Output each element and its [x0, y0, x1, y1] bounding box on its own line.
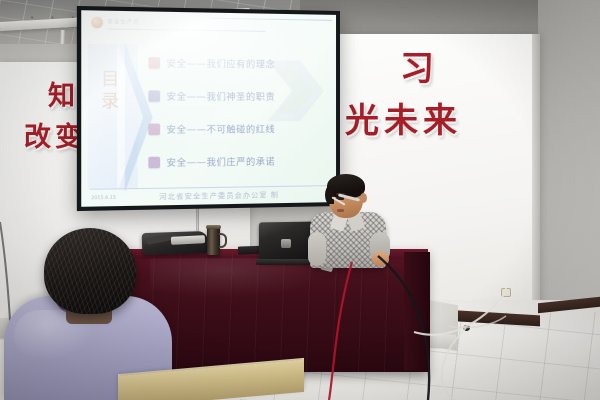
audience-hair-texture — [44, 228, 136, 314]
presenter-mouth — [337, 209, 344, 212]
slide-list-item-text: 安全——我们庄严的承诺 — [166, 154, 275, 168]
presenter-hand — [372, 252, 389, 266]
presentation-slide: 安全生产月 目录 安全——我们应有的理念 安全——我们神圣的职责 安全——不 — [81, 10, 336, 207]
slide-list-item: 安全——不可触碰的红线 — [148, 119, 275, 138]
right-side-wall — [538, 0, 600, 330]
bullet-icon — [148, 123, 160, 134]
laptop-brand-logo — [281, 239, 291, 248]
slide-list-item: 安全——我们神圣的职责 — [148, 86, 275, 105]
slide-header — [81, 10, 336, 41]
slide-footer-text: 河北省安全生产委员会办公室 制 — [159, 190, 279, 202]
slide-list-item-text: 安全——不可触碰的红线 — [166, 122, 275, 136]
slide-date: 2015.6.15 — [91, 196, 116, 202]
presenter-hair-side — [325, 186, 334, 204]
bullet-icon — [148, 57, 160, 69]
wall-panel-right-edge — [532, 34, 540, 334]
national-emblem-icon — [91, 17, 103, 29]
travel-mug-lid — [206, 225, 221, 229]
chevron-shape-front — [117, 42, 143, 192]
slide-list-item-text: 安全——我们应有的理念 — [166, 56, 275, 70]
presenter-arm-left — [308, 232, 326, 266]
slide-list-item: 安全——我们庄严的承诺 — [148, 152, 275, 172]
slide-header-text: 安全生产月 — [107, 18, 139, 26]
presenter-ear — [360, 193, 367, 203]
slide-list-item: 安全——我们应有的理念 — [148, 53, 275, 73]
wall-text-right-top: 习 — [400, 52, 434, 86]
wall-outlet[interactable] — [501, 288, 511, 297]
screen-support-pole — [196, 205, 199, 231]
table-right-edge — [404, 252, 430, 370]
bullet-icon — [148, 90, 160, 101]
wall-text-right-bottom: 光未来 — [345, 104, 462, 138]
photo-scene: • • ••• • 知 改变 习 光未来 安全生产月 目录 — [0, 0, 600, 400]
floor-outlet[interactable] — [463, 325, 470, 331]
wall-text-left-top: 知 — [48, 83, 75, 110]
slide-list-item-text: 安全——我们神圣的职责 — [166, 89, 275, 103]
projection-screen: 安全生产月 目录 安全——我们应有的理念 安全——我们神圣的职责 安全——不 — [77, 6, 340, 211]
bullet-icon — [148, 156, 160, 168]
slide-toc-label: 目录 — [99, 69, 123, 114]
